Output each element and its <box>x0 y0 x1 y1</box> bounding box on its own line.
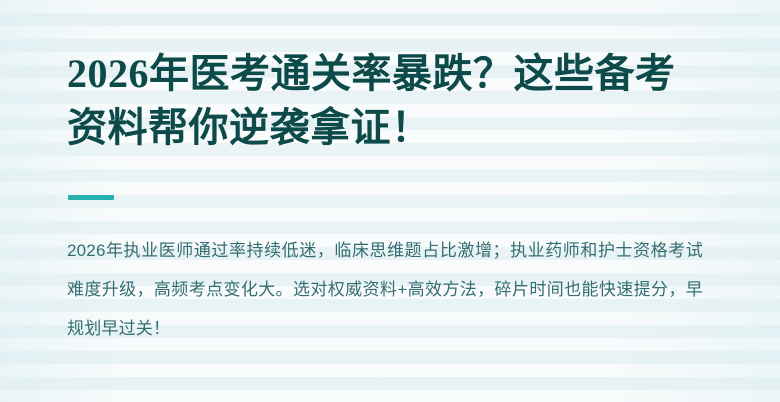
page-title: 2026年医考通关率暴跌？这些备考资料帮你逆袭拿证！ <box>67 47 707 155</box>
article-cover-card: 2026年医考通关率暴跌？这些备考资料帮你逆袭拿证！ 2026年执业医师通过率持… <box>0 0 780 402</box>
accent-divider <box>68 195 114 200</box>
article-summary: 2026年执业医师通过率持续低迷，临床思维题占比激增；执业药师和护士资格考试难度… <box>67 231 703 348</box>
content-container: 2026年医考通关率暴跌？这些备考资料帮你逆袭拿证！ 2026年执业医师通过率持… <box>67 0 713 402</box>
